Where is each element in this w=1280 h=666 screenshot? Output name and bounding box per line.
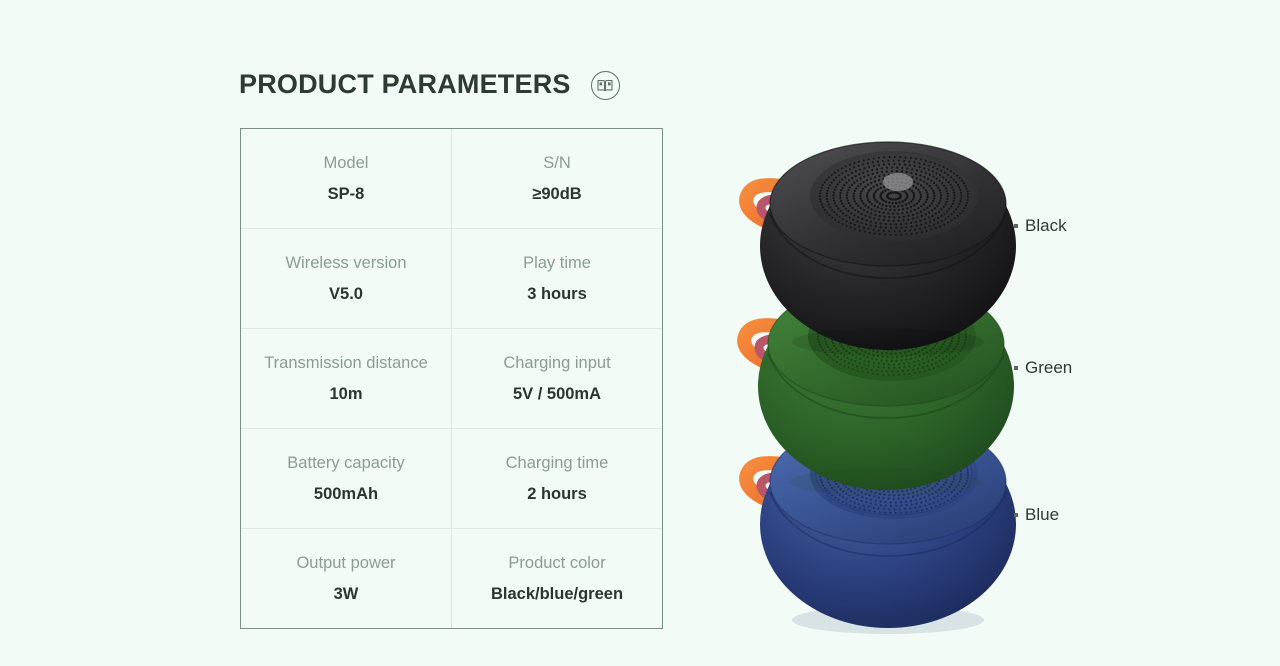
table-row: Wireless version V5.0 Play time 3 hours — [241, 229, 662, 329]
spec-label: Charging time — [506, 452, 609, 474]
spec-cell-play-time: Play time 3 hours — [452, 229, 662, 328]
spec-cell-transmission-distance: Transmission distance 10m — [241, 329, 452, 428]
spec-label: Wireless version — [285, 252, 406, 274]
spec-label: Output power — [296, 552, 395, 574]
spec-cell-charging-time: Charging time 2 hours — [452, 429, 662, 528]
color-label-green: Green — [1014, 358, 1072, 378]
page-title: PRODUCT PARAMETERS — [239, 71, 571, 98]
open-book-icon — [591, 71, 620, 100]
product-parameters-page: PRODUCT PARAMETERS Model SP-8 S/N ≥90dB — [0, 0, 1280, 666]
page-header: PRODUCT PARAMETERS — [239, 68, 620, 100]
spec-value: ≥90dB — [532, 183, 581, 205]
color-label-blue: Blue — [1014, 505, 1059, 525]
spec-cell-model: Model SP-8 — [241, 129, 452, 228]
spec-label: Transmission distance — [264, 352, 428, 374]
spec-table: Model SP-8 S/N ≥90dB Wireless version V5… — [240, 128, 663, 629]
spec-value: 500mAh — [314, 483, 378, 505]
table-row: Battery capacity 500mAh Charging time 2 … — [241, 429, 662, 529]
spec-label: Charging input — [503, 352, 610, 374]
bullet-icon — [1014, 366, 1018, 370]
color-label-text: Green — [1025, 358, 1072, 378]
spec-cell-battery-capacity: Battery capacity 500mAh — [241, 429, 452, 528]
product-gallery: Black Green Blue — [690, 96, 1250, 596]
bullet-icon — [1014, 513, 1018, 517]
spec-cell-output-power: Output power 3W — [241, 529, 452, 628]
color-label-text: Blue — [1025, 505, 1059, 525]
spec-label: Play time — [523, 252, 591, 274]
spec-value: SP-8 — [328, 183, 365, 205]
spec-value: 3W — [334, 583, 359, 605]
black-speaker — [712, 118, 1052, 358]
spec-value: Black/blue/green — [491, 583, 623, 605]
spec-cell-wireless-version: Wireless version V5.0 — [241, 229, 452, 328]
spec-label: Battery capacity — [287, 452, 404, 474]
color-label-text: Black — [1025, 216, 1067, 236]
table-row: Transmission distance 10m Charging input… — [241, 329, 662, 429]
table-row: Model SP-8 S/N ≥90dB — [241, 129, 662, 229]
spec-value: 5V / 500mA — [513, 383, 601, 405]
spec-cell-sn: S/N ≥90dB — [452, 129, 662, 228]
spec-label: Product color — [508, 552, 605, 574]
spec-cell-charging-input: Charging input 5V / 500mA — [452, 329, 662, 428]
spec-label: Model — [324, 152, 369, 174]
spec-value: 3 hours — [527, 283, 587, 305]
spec-value: 10m — [329, 383, 362, 405]
spec-value: V5.0 — [329, 283, 363, 305]
color-label-black: Black — [1014, 216, 1067, 236]
table-row: Output power 3W Product color Black/blue… — [241, 529, 662, 628]
spec-label: S/N — [543, 152, 571, 174]
bullet-icon — [1014, 224, 1018, 228]
spec-cell-product-color: Product color Black/blue/green — [452, 529, 662, 628]
spec-value: 2 hours — [527, 483, 587, 505]
